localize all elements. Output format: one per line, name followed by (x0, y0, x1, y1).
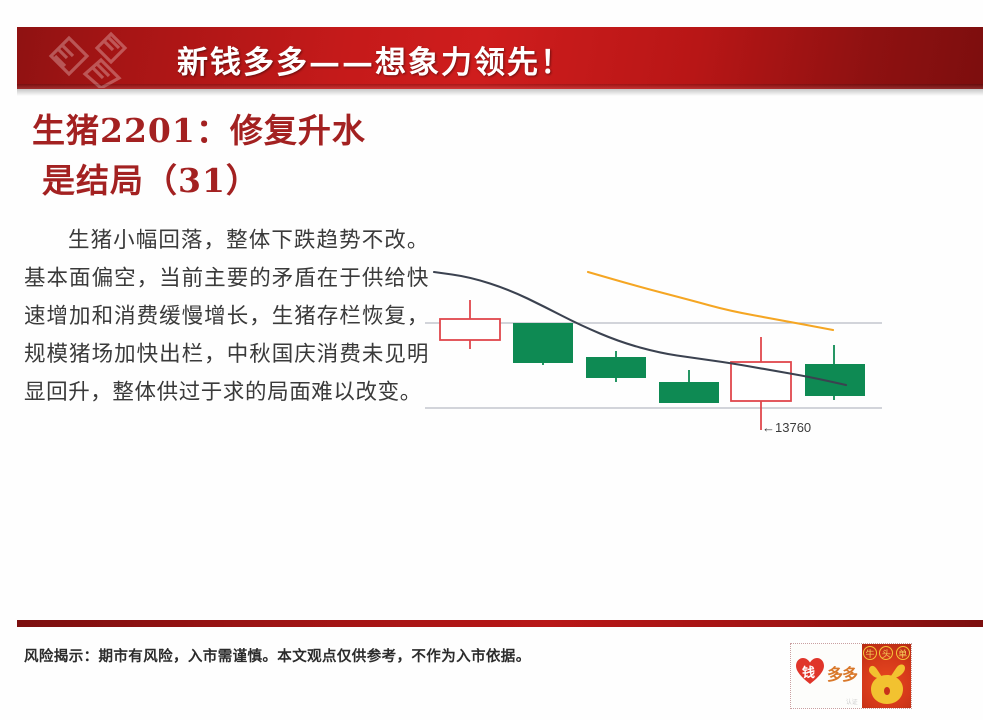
candle-body-2 (513, 323, 573, 363)
footer-divider (17, 620, 983, 627)
chart-svg: ←13760 (420, 248, 890, 458)
candle-body-6 (805, 364, 865, 396)
chart-annotation-0: ←13760 (762, 420, 811, 435)
candle-body-3 (586, 357, 646, 378)
brand-logo: 钱 多多 认证 牛 头 单 (790, 643, 912, 709)
logo-char-qian: 钱 (802, 662, 815, 681)
header-shadow (17, 89, 983, 96)
candlestick-chart: ←13760 (420, 248, 890, 458)
page-title: 生猪2201：修复升水 是结局（31） (32, 106, 442, 206)
footer-disclaimer: 风险揭示：期市有风险，入市需谨慎。本文观点仅供参考，不作为入市依据。 (24, 645, 531, 666)
candle-body-1 (440, 319, 500, 340)
logo-char-niu: 牛 (863, 646, 877, 660)
logo-qianduoduo: 钱 多多 认证 (791, 644, 862, 708)
diamond-knot-ornament-icon (39, 30, 149, 88)
page-title-line-1: 生猪2201：修复升水 (32, 106, 442, 156)
header-banner: 新钱多多——想象力领先！ (17, 27, 983, 89)
bull-head-icon (866, 662, 908, 706)
candle-body-4 (659, 382, 719, 403)
logo-niutoudan: 牛 头 单 (862, 644, 911, 708)
logo-tiny-text: 认证 (846, 697, 858, 706)
moving-average-orange (588, 272, 833, 330)
page-title-line-2: 是结局（31） (32, 156, 442, 206)
slide-canvas: 新钱多多——想象力领先！ 生猪2201：修复升水 是结局（31） 生猪小幅回落，… (0, 0, 983, 720)
logo-right-chars: 牛 头 单 (862, 646, 911, 660)
body-paragraph: 生猪小幅回落，整体下跌趋势不改。基本面偏空，当前主要的矛盾在于供给快速增加和消费… (24, 222, 429, 412)
logo-char-tou: 头 (879, 646, 893, 660)
logo-text-duoduo: 多多 (827, 661, 857, 685)
logo-char-dan: 单 (896, 646, 910, 660)
header-title: 新钱多多——想象力领先！ (177, 33, 573, 85)
